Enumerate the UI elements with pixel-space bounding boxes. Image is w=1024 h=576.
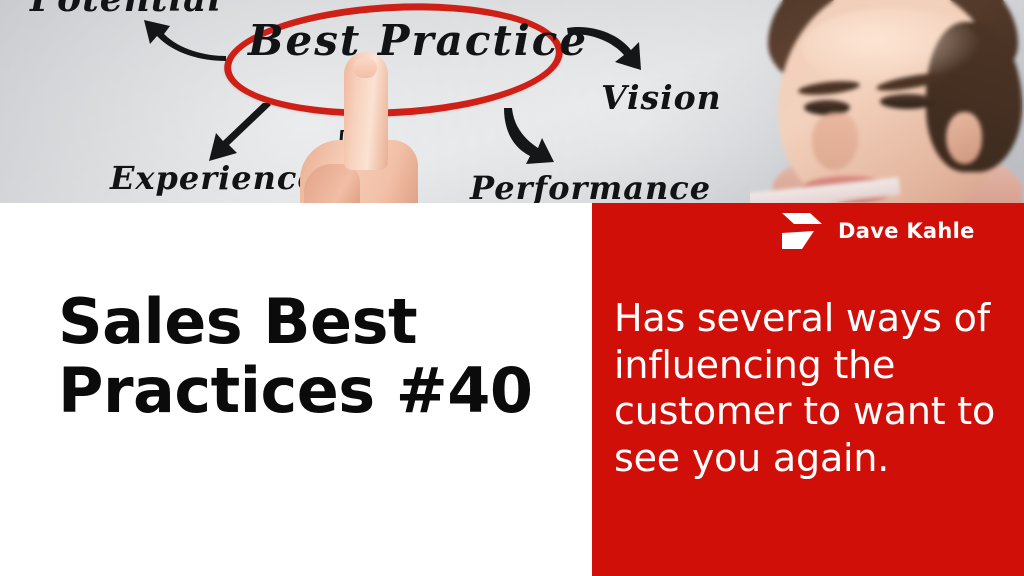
photo-blur-overlay [750, 0, 1024, 203]
arrow-down-curve-icon [500, 106, 564, 173]
brand-name-label: Dave Kahle [838, 219, 975, 243]
arrow-up-left-icon [140, 12, 230, 67]
page-title: Sales Best Practices #40 [58, 287, 578, 426]
banner-image: Potential Best Practice Vision Experienc… [0, 0, 1024, 203]
title-panel: Sales Best Practices #40 [0, 203, 592, 576]
index-finger [344, 52, 388, 170]
slide-canvas: Potential Best Practice Vision Experienc… [0, 0, 1024, 576]
brand-row: Dave Kahle [780, 211, 975, 251]
content-panel: Dave Kahle Has several ways of influenci… [592, 203, 1024, 576]
pointing-hand [300, 52, 425, 203]
arrow-down-right-icon [565, 22, 645, 83]
arrow-down-left-icon [205, 103, 277, 170]
presenter-photo [750, 0, 1024, 203]
panel-body-text: Has several ways of influencing the cust… [614, 295, 1010, 482]
handwriting-vision: Vision [601, 78, 722, 117]
chevron-logo-icon [780, 211, 824, 251]
handwriting-performance: Performance [470, 169, 711, 203]
